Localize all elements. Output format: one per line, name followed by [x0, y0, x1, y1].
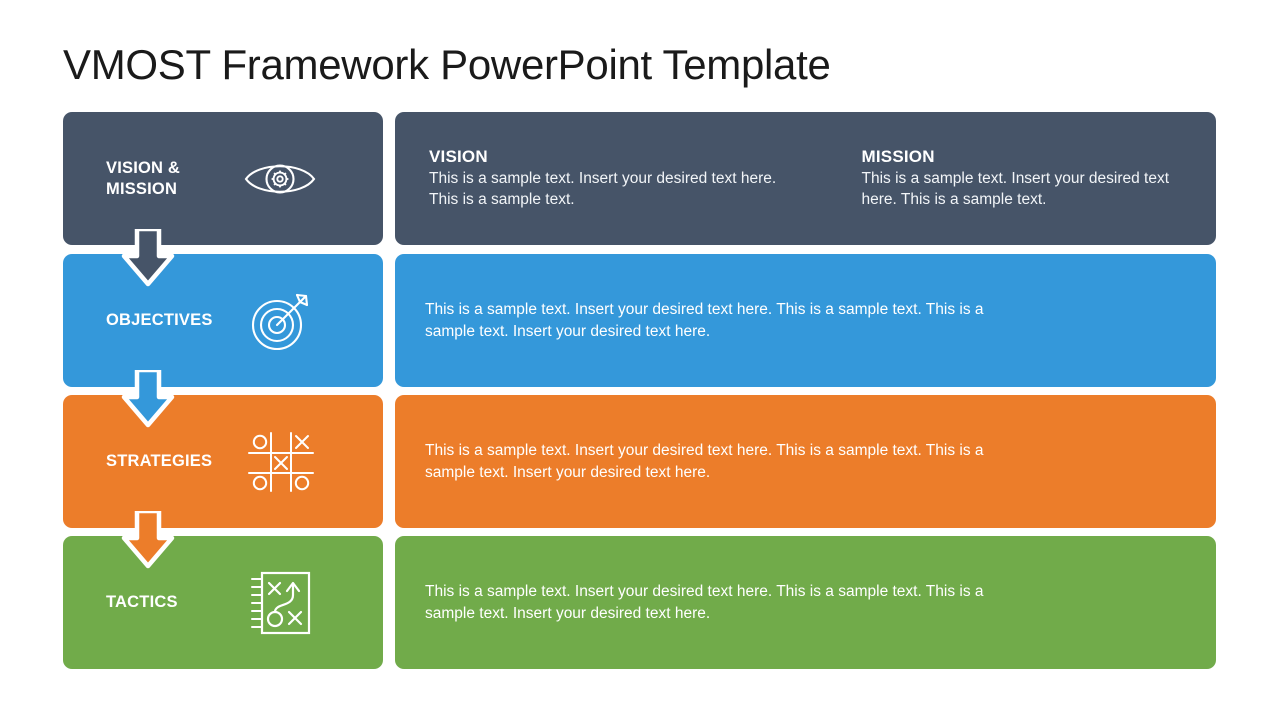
- column-body-vision: This is a sample text. Insert your desir…: [429, 169, 778, 210]
- left-label-objectives: OBJECTIVES: [106, 310, 234, 331]
- left-card-vision-mission[interactable]: VISION & MISSION: [63, 112, 383, 245]
- eye-gear-icon: [242, 141, 318, 217]
- body-objectives: This is a sample text. Insert your desir…: [395, 299, 1059, 342]
- playbook-icon: [242, 565, 318, 641]
- row-tactics: TACTICS: [63, 536, 1216, 669]
- body-tactics: This is a sample text. Insert your desir…: [395, 581, 1059, 624]
- down-arrow-icon-strategies-to-tactics: [115, 511, 181, 573]
- target-arrow-icon: [242, 283, 318, 359]
- left-label-line2: MISSION: [106, 180, 177, 198]
- row-objectives: OBJECTIVES: [63, 254, 1216, 387]
- column-heading-vision: VISION: [429, 147, 778, 167]
- slide-canvas: VMOST Framework PowerPoint Template VISI…: [0, 0, 1280, 720]
- page-title: VMOST Framework PowerPoint Template: [63, 41, 831, 89]
- left-label-line1: VISION &: [106, 159, 180, 177]
- vmost-rows: VISION & MISSION: [63, 112, 1216, 682]
- tic-tac-toe-icon: [242, 424, 318, 500]
- row-strategies: STRATEGIES: [63, 395, 1216, 528]
- left-label-strategies: STRATEGIES: [106, 451, 234, 472]
- left-card-tactics[interactable]: TACTICS: [63, 536, 383, 669]
- column-body-mission: This is a sample text. Insert your desir…: [862, 169, 1183, 210]
- down-arrow-icon-objectives-to-strategies: [115, 370, 181, 432]
- body-strategies: This is a sample text. Insert your desir…: [395, 440, 1059, 483]
- left-card-strategies[interactable]: STRATEGIES: [63, 395, 383, 528]
- right-card-objectives[interactable]: This is a sample text. Insert your desir…: [395, 254, 1216, 387]
- right-card-strategies[interactable]: This is a sample text. Insert your desir…: [395, 395, 1216, 528]
- left-label-vision-mission: VISION & MISSION: [106, 158, 234, 199]
- column-vision: VISION This is a sample text. Insert you…: [429, 147, 806, 210]
- dual-column-wrap: VISION This is a sample text. Insert you…: [395, 147, 1216, 210]
- left-label-tactics: TACTICS: [106, 592, 234, 613]
- column-mission: MISSION This is a sample text. Insert yo…: [806, 147, 1183, 210]
- right-card-tactics[interactable]: This is a sample text. Insert your desir…: [395, 536, 1216, 669]
- row-vision-mission: VISION & MISSION: [63, 112, 1216, 245]
- right-card-vision-mission[interactable]: VISION This is a sample text. Insert you…: [395, 112, 1216, 245]
- column-heading-mission: MISSION: [862, 147, 1183, 167]
- left-card-objectives[interactable]: OBJECTIVES: [63, 254, 383, 387]
- down-arrow-icon-vision-to-objectives: [115, 229, 181, 291]
